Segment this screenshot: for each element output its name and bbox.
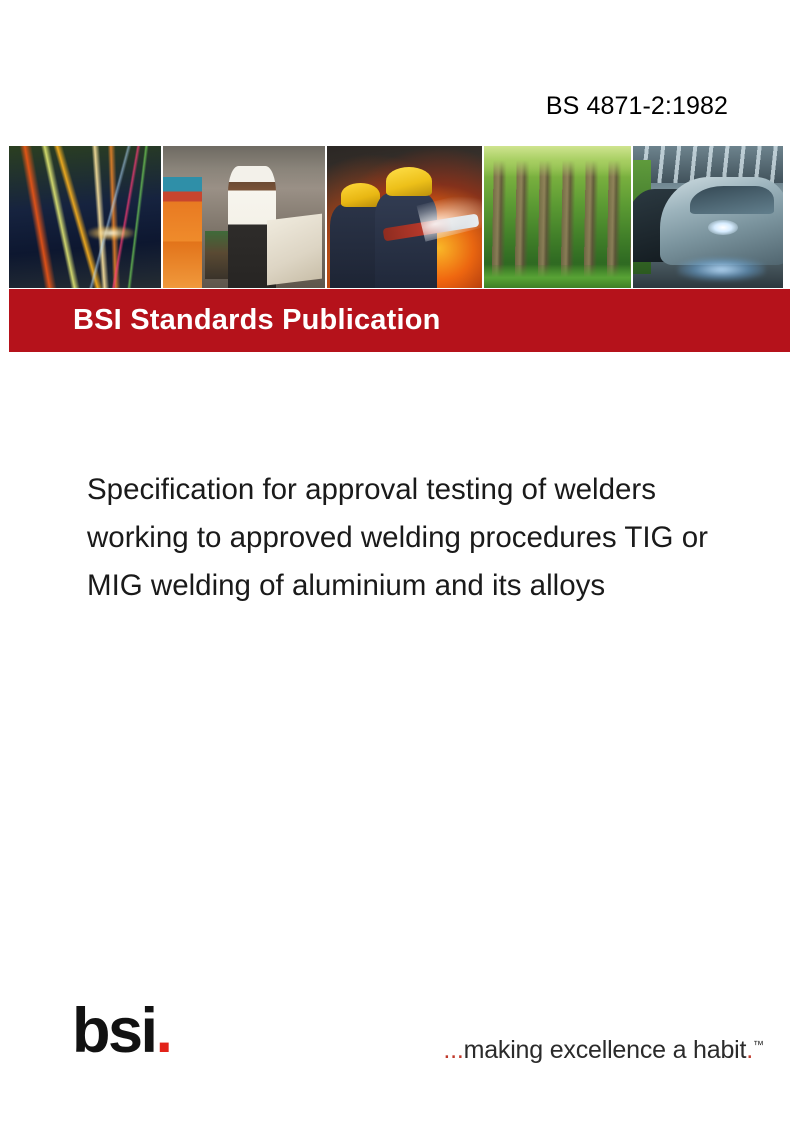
- title-line-3: MIG welding of aluminium and its alloys: [87, 562, 767, 610]
- publication-banner-label: BSI Standards Publication: [73, 303, 441, 336]
- car-assembly-photo: [633, 146, 783, 288]
- bsi-tagline: ...making excellence a habit.™: [443, 1036, 764, 1065]
- tagline-text: making excellence a habit: [464, 1036, 747, 1064]
- forest-floor: [484, 265, 632, 288]
- bsi-logo-text: bsi: [72, 996, 156, 1066]
- forest-photo: [484, 146, 632, 288]
- publication-banner: BSI Standards Publication: [9, 289, 790, 352]
- trademark-icon: ™: [753, 1040, 764, 1052]
- bsi-logo: bsi.: [72, 1000, 171, 1063]
- assembly-floor-glow: [678, 258, 765, 281]
- tagline-period: .: [746, 1036, 753, 1064]
- title-line-1: Specification for approval testing of we…: [87, 466, 767, 514]
- firefighter-helmet-front: [386, 167, 432, 195]
- warehouse-crates: [163, 177, 202, 288]
- forest-canopy: [484, 146, 632, 177]
- standard-number: BS 4871-2:1982: [546, 92, 728, 121]
- warehouse-box: [267, 214, 322, 286]
- title-line-2: working to approved welding procedures T…: [87, 514, 767, 562]
- warehouse-worker-photo: [163, 146, 326, 288]
- cover-image-strip: [9, 146, 783, 288]
- car-windshield: [690, 186, 774, 214]
- bsi-logo-dot: .: [156, 996, 171, 1066]
- firefighters-photo: [327, 146, 482, 288]
- light-trails-photo: [9, 146, 161, 288]
- page-title: Specification for approval testing of we…: [87, 466, 767, 610]
- tagline-ellipsis: ...: [443, 1036, 463, 1064]
- firefighter-helmet-rear: [341, 183, 380, 207]
- warehouse-cart: [205, 231, 231, 279]
